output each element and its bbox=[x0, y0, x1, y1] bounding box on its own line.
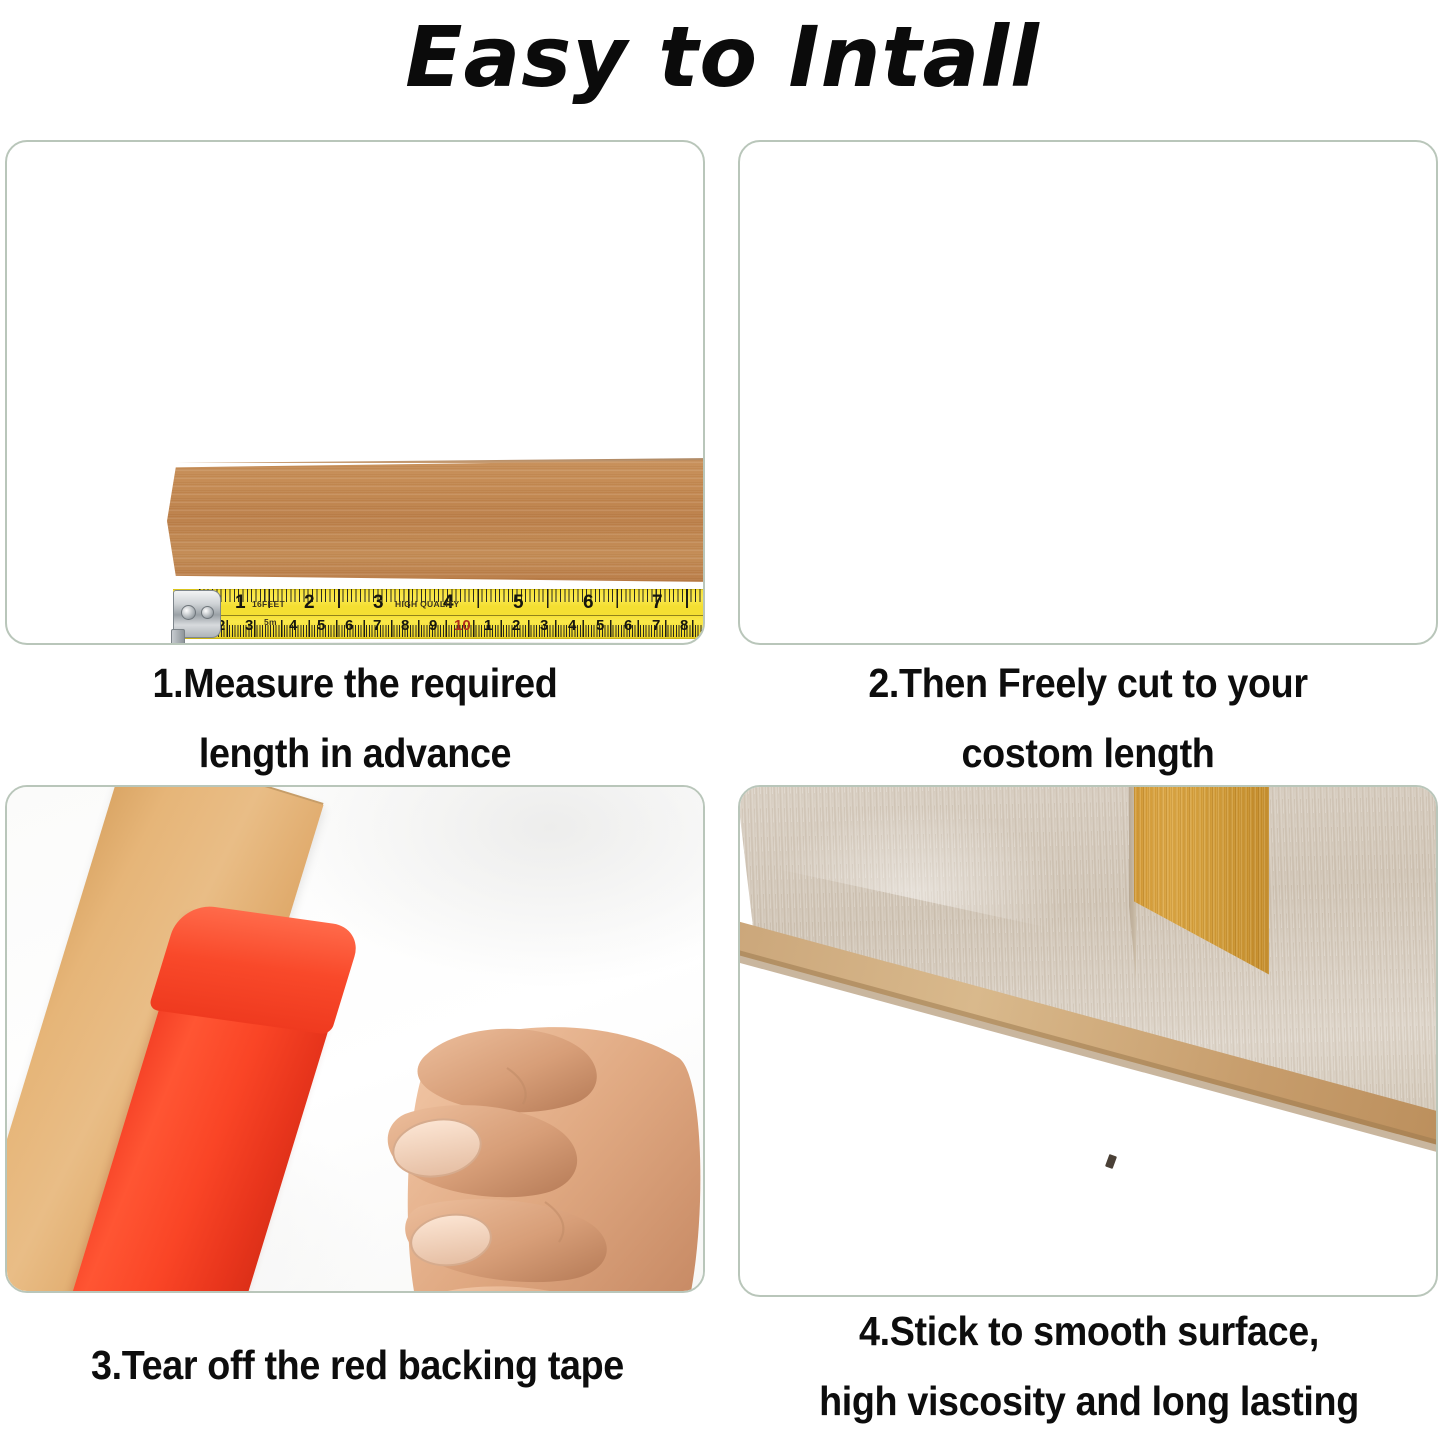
caption-line: 3.Tear off the red backing tape bbox=[29, 1330, 687, 1400]
tape-cm-13: 3 bbox=[540, 616, 548, 636]
caption-step-4: 4.Stick to smooth surface, high viscosit… bbox=[761, 1296, 1416, 1436]
tape-cm-17: 7 bbox=[652, 616, 660, 636]
tape-cm-15: 5 bbox=[596, 616, 604, 636]
tape-cm-10: 10 bbox=[454, 616, 471, 636]
tape-cm-3: 3 bbox=[245, 616, 253, 636]
tape-cm-4: 4 bbox=[289, 616, 297, 636]
tape-cm-8: 8 bbox=[401, 616, 409, 636]
tape-measure: 1 2 3 4 5 6 7 16FEET HIGH QUALITY 2 3 4 … bbox=[173, 589, 705, 637]
tape-cm-7: 7 bbox=[373, 616, 381, 636]
tape-cm-18: 8 bbox=[680, 616, 688, 636]
caption-line: high viscosity and long lasting bbox=[761, 1366, 1416, 1436]
tape-cm-11: 1 bbox=[484, 616, 492, 636]
tape-cm-6: 6 bbox=[345, 616, 353, 636]
tape-cm-5: 5 bbox=[317, 616, 325, 636]
tape-cm-16: 6 bbox=[624, 616, 632, 636]
page-title: Easy to Intall bbox=[0, 2, 1445, 112]
edge-notch bbox=[1105, 1154, 1117, 1169]
step-panel-peel bbox=[5, 785, 705, 1293]
wood-trim-strip bbox=[167, 460, 705, 582]
caption-line: 4.Stick to smooth surface, bbox=[761, 1296, 1416, 1366]
tape-cm-numbers: 2 3 4 5 6 7 8 9 10 1 2 3 4 5 6 7 8 9 5m bbox=[173, 589, 705, 609]
step-panel-measure: 1 2 3 4 5 6 7 16FEET HIGH QUALITY 2 3 4 … bbox=[5, 140, 705, 645]
tape-measure-shadow bbox=[183, 642, 703, 645]
caption-step-1: 1.Measure the required length in advance bbox=[33, 648, 677, 788]
tape-cm-9: 9 bbox=[429, 616, 437, 636]
caption-line: 2.Then Freely cut to your bbox=[766, 648, 1410, 718]
step-panel-stick bbox=[738, 785, 1438, 1297]
caption-step-3: 3.Tear off the red backing tape bbox=[29, 1330, 687, 1400]
tape-cm-14: 4 bbox=[568, 616, 576, 636]
caption-step-2: 2.Then Freely cut to your costom length bbox=[766, 648, 1410, 788]
caption-line: length in advance bbox=[33, 718, 677, 788]
tape-cm-12: 2 bbox=[512, 616, 520, 636]
tape-metric-label: 5m bbox=[264, 617, 277, 627]
step-panel-cut bbox=[738, 140, 1438, 645]
caption-line: 1.Measure the required bbox=[33, 648, 677, 718]
hand-peeling-tape bbox=[309, 962, 705, 1293]
caption-line: costom length bbox=[766, 718, 1410, 788]
